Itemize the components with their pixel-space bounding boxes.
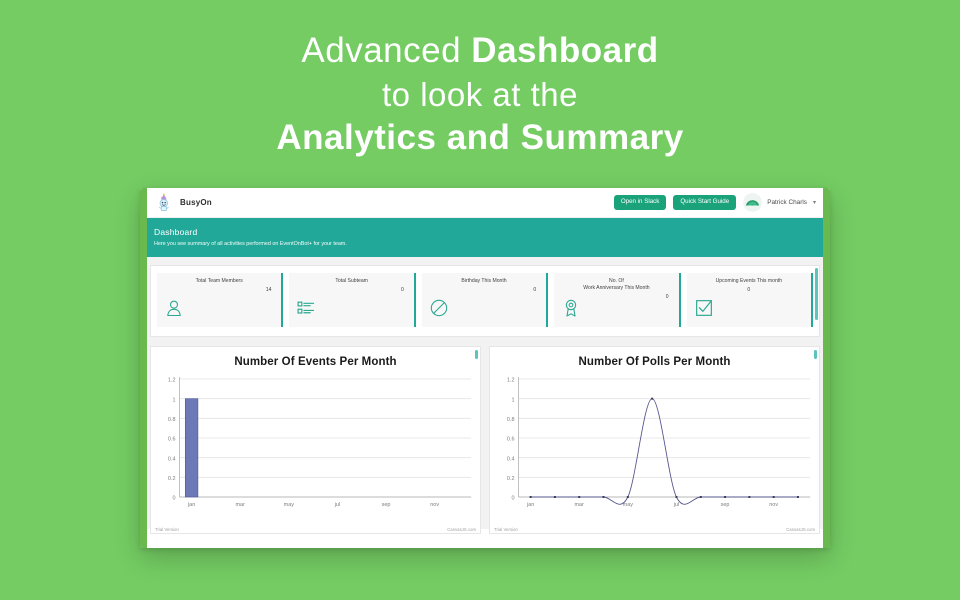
app-topbar: BusyOn Open in Slack Quick Start Guide P… [140, 188, 830, 218]
brand-name: BusyOn [180, 198, 212, 207]
person-icon [164, 298, 184, 318]
stat-card-value: 0 [428, 287, 540, 293]
svg-text:1: 1 [172, 397, 175, 403]
svg-text:0: 0 [511, 496, 514, 502]
stat-card-total-team-members[interactable]: Total Team Members 14 [157, 273, 283, 327]
checkbox-check-icon [694, 298, 714, 318]
avatar [743, 193, 762, 212]
stat-cards-scrollbar[interactable] [815, 268, 818, 320]
svg-text:mar: mar [575, 502, 585, 508]
stat-card-value: 0 [693, 287, 805, 293]
svg-text:may: may [284, 502, 295, 508]
right-rail [823, 188, 830, 548]
svg-text:1.2: 1.2 [168, 378, 176, 384]
svg-text:0.6: 0.6 [507, 437, 515, 443]
party-hat-character-logo-icon [154, 193, 174, 213]
svg-text:0.8: 0.8 [168, 417, 176, 423]
svg-text:0.2: 0.2 [507, 476, 515, 482]
dashboard-content: Total Team Members 14 Total Subteam 0 [140, 257, 830, 529]
chevron-down-icon[interactable]: ▾ [813, 199, 816, 206]
svg-text:jan: jan [187, 502, 195, 508]
promo-line-2: to look at the [0, 75, 960, 115]
chart-watermark-trial-right: Trial Version [494, 527, 518, 532]
stat-card-title: Total Subteam [295, 278, 407, 285]
svg-text:sep: sep [382, 502, 391, 508]
promo-headline: Advanced Dashboard to look at the Analyt… [0, 30, 960, 160]
chart-scrollbar-left[interactable] [475, 350, 478, 359]
award-ribbon-icon [561, 298, 581, 318]
stat-card-value: 14 [163, 287, 275, 293]
svg-text:jul: jul [673, 502, 679, 508]
svg-text:0.8: 0.8 [507, 417, 515, 423]
svg-text:jul: jul [334, 502, 340, 508]
topbar-actions: Open in Slack Quick Start Guide Patrick … [614, 193, 820, 212]
svg-text:0.2: 0.2 [168, 476, 176, 482]
chart-watermark-trial-left: Trial Version [155, 527, 179, 532]
svg-text:nov: nov [769, 502, 778, 508]
svg-text:0: 0 [172, 496, 175, 502]
chart-title-polls: Number Of Polls Per Month [493, 356, 816, 368]
stat-card-title: Total Team Members [163, 278, 275, 285]
svg-text:1.2: 1.2 [507, 378, 515, 384]
stat-card-title: No. Of Work Anniversary This Month [560, 278, 672, 292]
svg-text:0.4: 0.4 [168, 456, 176, 462]
chart-watermark-canvasjs-right: CanvasJS.com [786, 527, 815, 532]
left-rail [140, 188, 147, 548]
list-icon [296, 298, 316, 318]
chart-title-events: Number Of Events Per Month [154, 356, 477, 368]
stat-card-birthday-this-month[interactable]: Birthday This Month 0 [422, 273, 548, 327]
circle-slash-icon [429, 298, 449, 318]
stat-card-title-line-1: No. Of [609, 278, 624, 284]
svg-text:0.4: 0.4 [507, 456, 515, 462]
promo-line-1-bold: Dashboard [471, 31, 658, 70]
charts-row: Number Of Events Per Month 00.20.40.60.8… [150, 346, 820, 534]
svg-text:1: 1 [511, 397, 514, 403]
promo-line-1: Advanced Dashboard [0, 30, 960, 73]
stat-card-work-anniversary-this-month[interactable]: No. Of Work Anniversary This Month 0 [554, 273, 680, 327]
stat-cards-row: Total Team Members 14 Total Subteam 0 [150, 265, 820, 337]
stat-card-title: Upcoming Events This month [693, 278, 805, 285]
chart-scrollbar-right[interactable] [814, 350, 817, 359]
chart-card-polls-per-month: Number Of Polls Per Month 00.20.40.60.81… [489, 346, 820, 534]
page-banner: Dashboard Here you see summary of all ac… [140, 218, 830, 257]
svg-text:may: may [623, 502, 634, 508]
svg-text:0.6: 0.6 [168, 437, 176, 443]
chart-plot-polls: 00.20.40.60.811.2janmarmayjulsepnov [493, 369, 816, 521]
stat-card-title: Birthday This Month [428, 278, 540, 285]
svg-text:nov: nov [430, 502, 439, 508]
brand[interactable]: BusyOn [154, 193, 212, 213]
stat-card-upcoming-events-this-month[interactable]: Upcoming Events This month 0 [687, 273, 813, 327]
user-name: Patrick Charls [767, 199, 807, 206]
svg-text:jan: jan [526, 502, 534, 508]
svg-text:mar: mar [236, 502, 246, 508]
app-window: BusyOn Open in Slack Quick Start Guide P… [140, 188, 830, 548]
stat-card-value: 0 [295, 287, 407, 293]
svg-text:sep: sep [721, 502, 730, 508]
promo-line-1-light: Advanced [301, 31, 471, 70]
stat-card-total-subteam[interactable]: Total Subteam 0 [289, 273, 415, 327]
page-title: Dashboard [154, 227, 830, 237]
promo-line-3: Analytics and Summary [0, 117, 960, 160]
stat-card-title-line-2: Work Anniversary This Month [583, 285, 649, 291]
page-subtitle: Here you see summary of all activities p… [154, 241, 830, 247]
open-in-slack-button[interactable]: Open in Slack [614, 195, 667, 209]
chart-watermark-canvasjs-left: CanvasJS.com [447, 527, 476, 532]
chart-plot-events: 00.20.40.60.811.2janmarmayjulsepnov [154, 369, 477, 521]
user-menu[interactable]: Patrick Charls ▾ [743, 193, 820, 212]
chart-card-events-per-month: Number Of Events Per Month 00.20.40.60.8… [150, 346, 481, 534]
quick-start-guide-button[interactable]: Quick Start Guide [673, 195, 736, 209]
